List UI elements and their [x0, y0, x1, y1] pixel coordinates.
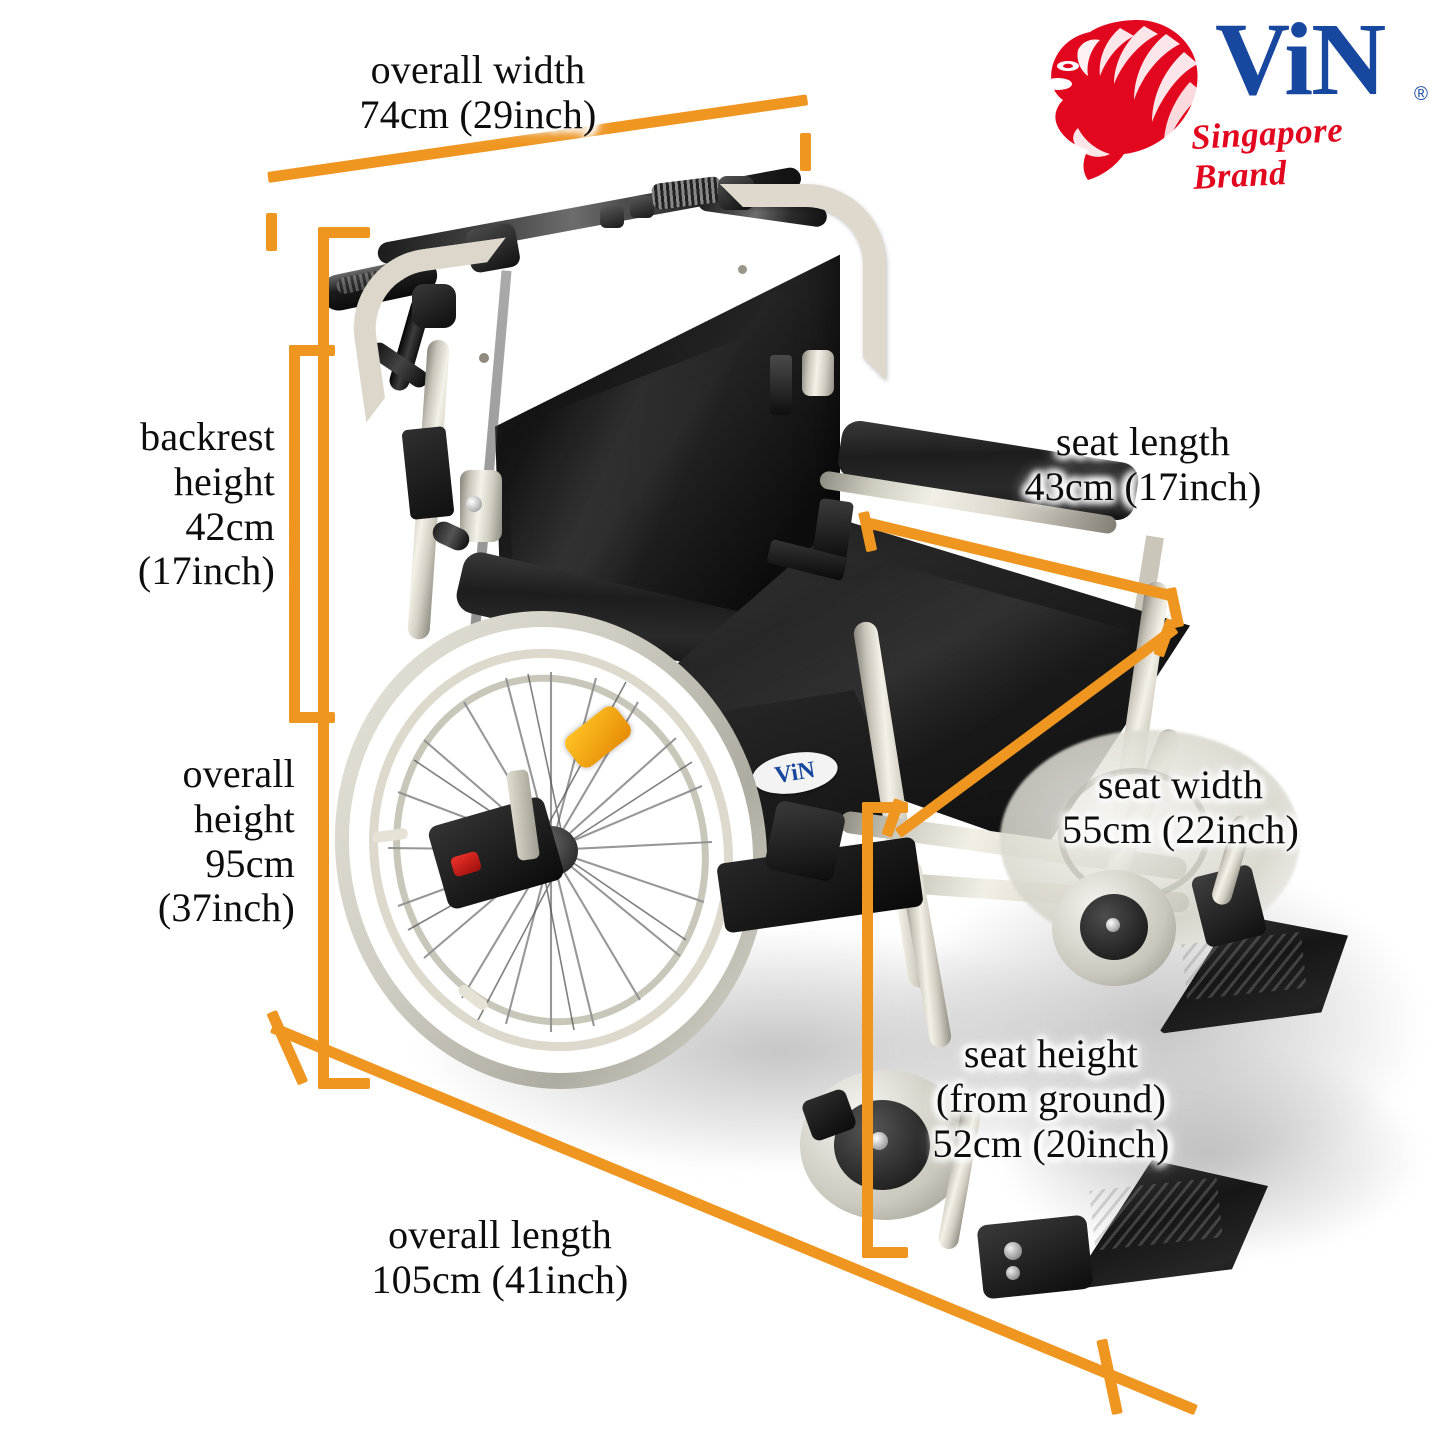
label-seat-height: seat height (from ground) 52cm (20inch) — [886, 1032, 1216, 1166]
label-seat-width: seat width 55cm (22inch) — [1008, 763, 1353, 853]
hinge-bolt — [466, 496, 482, 512]
caster-bolt-right — [1106, 918, 1120, 932]
wheelchair-photo: ViN — [300, 170, 1420, 1300]
logo-wordmark: ViN — [1215, 8, 1384, 112]
axle-plate — [763, 799, 846, 882]
footrest-hanger-left — [976, 1214, 1093, 1299]
bar-bolt-2 — [630, 196, 654, 218]
label-overall-height: overall height 95cm (37inch) — [30, 752, 295, 931]
hanger-bolt-left-2 — [1006, 1266, 1020, 1280]
bar-bolt-1 — [600, 206, 624, 228]
label-backrest-height: backrest height 42cm (17inch) — [30, 415, 275, 594]
backrest-angle-bracket — [401, 426, 454, 520]
label-overall-width: overall width 74cm (29inch) — [268, 48, 688, 138]
backrest-hinge-right — [802, 350, 834, 396]
product-dimension-diagram: ViN ® Singapore Brand — [0, 0, 1445, 1445]
backrest-side-strap — [770, 355, 792, 415]
label-overall-length: overall length 105cm (41inch) — [290, 1213, 710, 1303]
hanger-bolt-left-1 — [1004, 1242, 1022, 1260]
registered-trademark-icon: ® — [1414, 84, 1428, 106]
backrest-rivet-left — [479, 353, 489, 363]
label-seat-length: seat length 43cm (17inch) — [963, 420, 1323, 510]
backrest-rivet-right — [738, 265, 747, 274]
brand-logo: ViN ® Singapore Brand — [1030, 6, 1440, 174]
